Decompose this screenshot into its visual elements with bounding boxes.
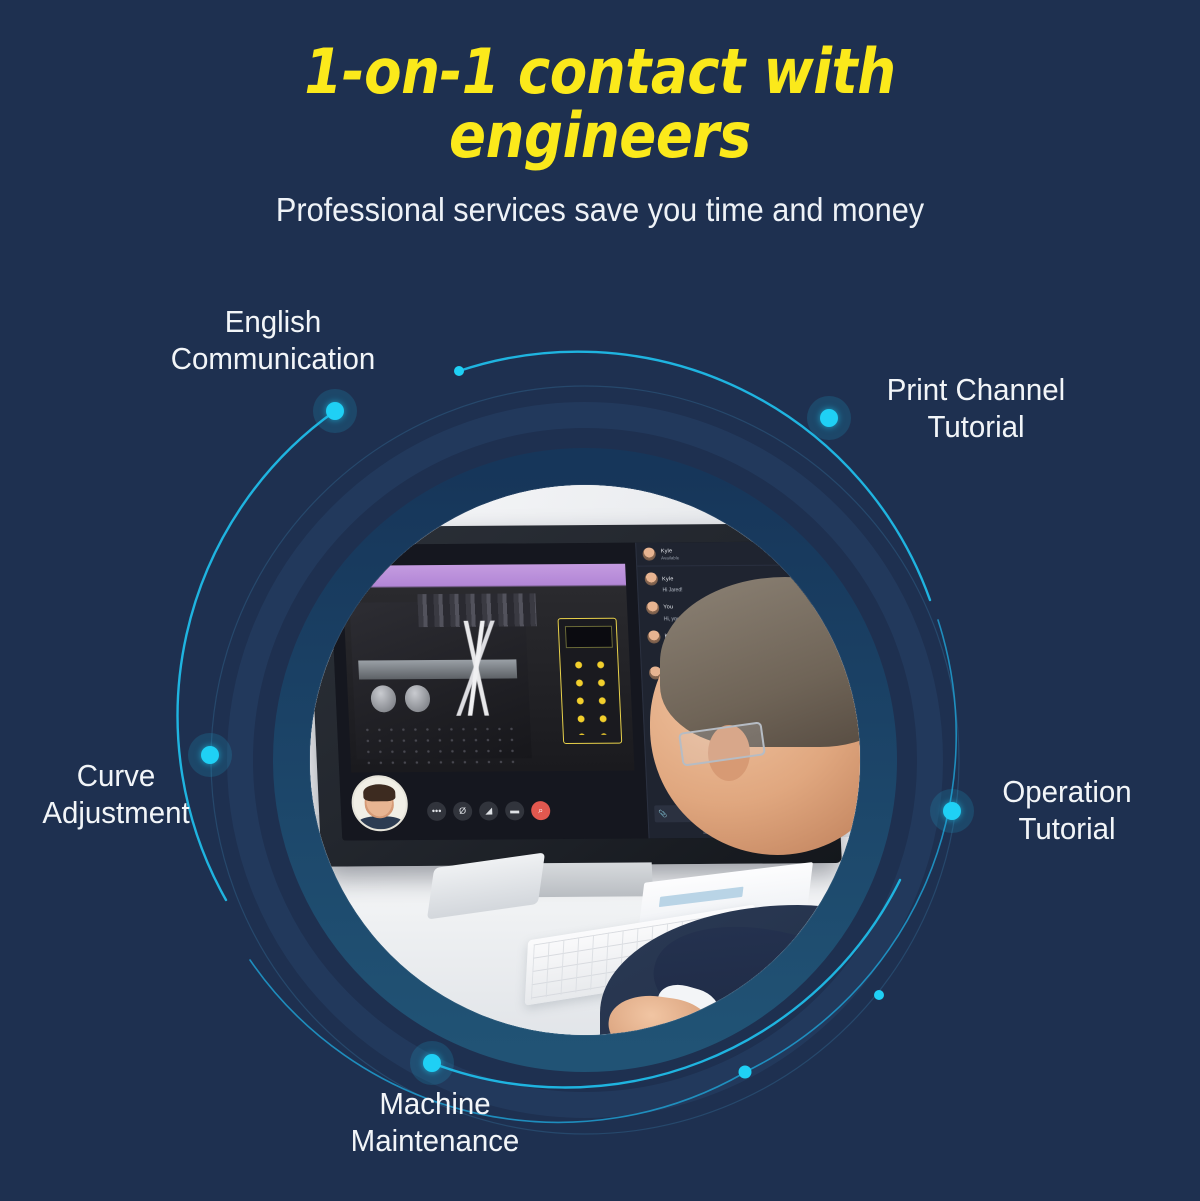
chat-contact-name: Kyle <box>661 548 679 554</box>
chat-icon[interactable]: ▬ <box>505 801 525 820</box>
mic-muted-icon[interactable]: Ø <box>453 801 473 820</box>
feature-label-machine-maintenance[interactable]: Machine Maintenance <box>316 1086 554 1159</box>
self-view-hair <box>363 784 396 801</box>
arc-endpoint-right <box>874 990 884 1000</box>
printer-roller-2 <box>404 685 431 712</box>
camera-off-icon[interactable]: ◢ <box>479 801 499 820</box>
avatar <box>645 573 659 586</box>
chat-header: Kyle Available × <box>636 541 810 566</box>
node-english-communication[interactable] <box>313 389 357 433</box>
feature-label-print-channel-tutorial[interactable]: Print Channel Tutorial <box>862 372 1090 445</box>
feature-label-english-communication[interactable]: English Communication <box>116 304 430 377</box>
more-options-icon[interactable]: ••• <box>427 802 447 821</box>
node-operation-tutorial[interactable] <box>930 789 974 833</box>
node-machine-maintenance[interactable] <box>410 1041 454 1085</box>
end-call-icon[interactable]: ⌕ <box>531 801 551 820</box>
header: 1-on-1 contact with engineers Profession… <box>0 0 1200 229</box>
printer-vacuum-bed <box>361 724 521 767</box>
arc-endpoint-bottom <box>739 1066 752 1079</box>
printer-ink-tubes <box>438 620 516 716</box>
chat-message-sender: Kyle <box>662 576 674 582</box>
self-view-avatar <box>350 775 409 832</box>
hero-photo: ••• Ø ◢ ▬ ⌕ Kyle Avail <box>310 485 860 1035</box>
engineer-person <box>600 605 860 1035</box>
close-icon[interactable]: × <box>798 549 804 558</box>
call-controls: ••• Ø ◢ ▬ ⌕ <box>427 801 551 821</box>
page-title: 1-on-1 contact with engineers <box>72 0 1128 169</box>
arc-endpoint-top-left <box>454 366 464 376</box>
infographic-page: 1-on-1 contact with engineers Profession… <box>0 0 1200 1201</box>
feature-label-curve-adjustment[interactable]: Curve Adjustment <box>15 758 216 831</box>
contact-avatar <box>643 548 657 561</box>
node-print-channel-tutorial[interactable] <box>807 396 851 440</box>
printer-machine-video <box>342 563 634 772</box>
page-subtitle: Professional services save you time and … <box>42 169 1158 229</box>
feature-label-operation-tutorial[interactable]: Operation Tutorial <box>977 774 1158 847</box>
chat-contact-status: Available <box>661 555 679 560</box>
